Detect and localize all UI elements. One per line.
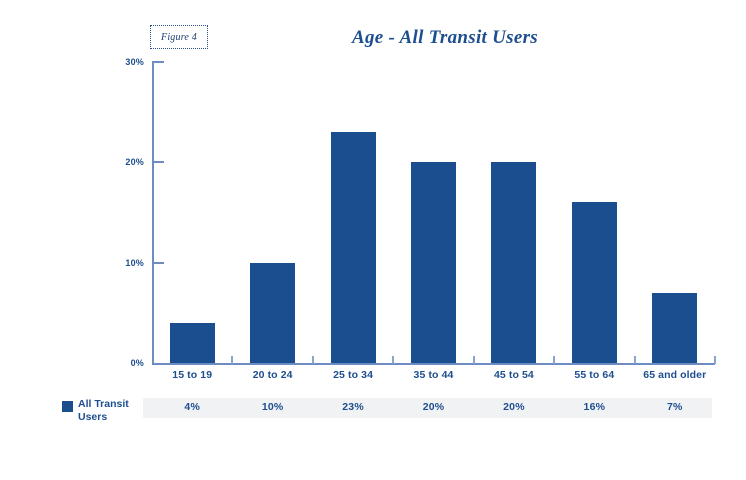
bar-series bbox=[0, 0, 746, 363]
y-axis-tick-mark bbox=[152, 61, 164, 63]
legend-value-cell: 20% bbox=[394, 401, 474, 413]
legend-value-cell: 7% bbox=[635, 401, 715, 413]
bar bbox=[491, 162, 536, 363]
bar bbox=[250, 263, 295, 363]
x-axis-tick-mark bbox=[473, 356, 475, 364]
legend-color-swatch bbox=[62, 401, 73, 412]
chart-plot-area: 0%10%20%30% 15 to 1920 to 2425 to 3435 t… bbox=[0, 0, 746, 400]
x-axis-tick-mark bbox=[392, 356, 394, 364]
bar bbox=[331, 132, 376, 363]
legend-label-line-2: Users bbox=[78, 411, 107, 423]
x-axis-line bbox=[152, 363, 715, 365]
legend-value-cell: 10% bbox=[233, 401, 313, 413]
legend-value-cell: 16% bbox=[554, 401, 634, 413]
x-axis-tick-mark bbox=[553, 356, 555, 364]
x-axis-tick-mark bbox=[714, 356, 716, 364]
bar bbox=[411, 162, 456, 363]
bar bbox=[652, 293, 697, 363]
x-axis-tick-mark bbox=[634, 356, 636, 364]
x-axis-tick-mark bbox=[312, 356, 314, 364]
legend-value-cell: 23% bbox=[313, 401, 393, 413]
x-axis-tick-mark bbox=[231, 356, 233, 364]
legend-series-label: All Transit Users bbox=[78, 398, 140, 424]
bar bbox=[170, 323, 215, 363]
bar bbox=[572, 202, 617, 363]
x-axis-tick-label: 65 and older bbox=[615, 369, 735, 381]
x-axis-labels: 15 to 1920 to 2425 to 3435 to 4445 to 54… bbox=[0, 369, 746, 389]
legend-label-line-1: All Transit bbox=[78, 398, 129, 410]
legend-value-cell: 4% bbox=[152, 401, 232, 413]
y-axis-tick-mark bbox=[152, 262, 164, 264]
legend-data-row: All Transit Users 4%10%23%20%20%16%7% bbox=[0, 398, 746, 434]
y-axis-tick-mark bbox=[152, 161, 164, 163]
legend-key: All Transit Users bbox=[62, 398, 140, 424]
legend-value-cell: 20% bbox=[474, 401, 554, 413]
